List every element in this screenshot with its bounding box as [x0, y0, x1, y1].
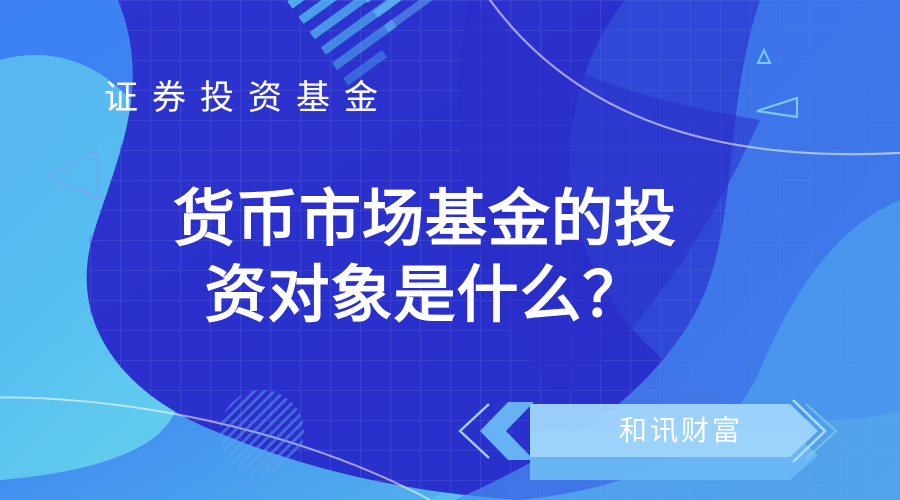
striped-circle-decor — [220, 390, 304, 474]
banner-plate-upper — [530, 404, 818, 457]
background-artwork — [0, 0, 900, 500]
poster-canvas: 证券投资基金 货币市场基金的投 资对象是什么？ 和讯财富 — [0, 0, 900, 500]
